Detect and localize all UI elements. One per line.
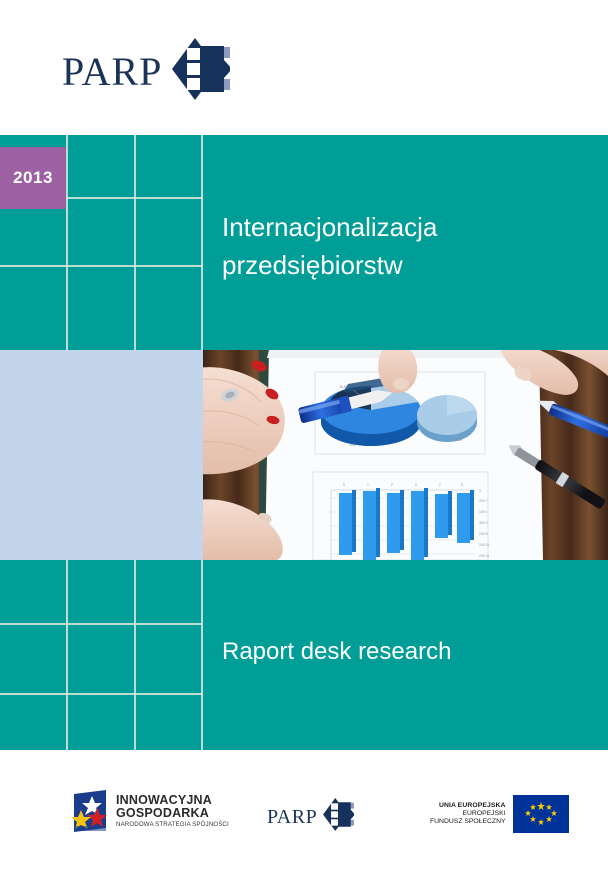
eu-flag-icon [513, 795, 569, 833]
svg-text:0: 0 [415, 483, 417, 487]
year-badge: 2013 [0, 147, 66, 209]
svg-text:16,5: 16,5 [339, 385, 346, 389]
svg-text:5: 5 [461, 483, 463, 487]
svg-text:10,2: 10,2 [455, 438, 462, 442]
svg-text:200 8: 200 8 [479, 532, 488, 536]
svg-text:1: 1 [367, 483, 369, 487]
page-title: Internacjonalizacja przedsiębiorstw [222, 208, 592, 285]
year-badge-label: 2013 [13, 168, 53, 188]
svg-text:19,6: 19,6 [349, 443, 356, 447]
stars-flag-icon [72, 790, 108, 832]
ig-line2: GOSPODARKA [116, 807, 229, 820]
eu-line2: EUROPEJSKI [430, 810, 506, 818]
svg-text:9: 9 [343, 483, 345, 487]
logo-innowacyjna-gospodarka: INNOWACYJNA GOSPODARKA NARODOWA STRATEGI… [72, 790, 229, 832]
svg-text:200 7: 200 7 [479, 499, 488, 503]
svg-text:300 9: 300 9 [479, 521, 488, 525]
eu-line3: FUNDUSZ SPOŁECZNY [430, 818, 506, 826]
cover-page: PARP [0, 0, 608, 871]
ig-line1: INNOWACYJNA [116, 794, 229, 807]
parp-diamond-icon [172, 38, 230, 105]
eu-line1: UNIA EUROPEJSKA [430, 802, 506, 810]
parp-logo-header: PARP [62, 38, 230, 105]
page-subtitle: Raport desk research [222, 638, 592, 666]
parp-wordmark: PARP [62, 52, 162, 92]
svg-text:0: 0 [479, 489, 481, 493]
cover-photo: 16,5 34,1 19,6 10,2 [203, 350, 608, 560]
logo-parp-footer: PARP [267, 798, 354, 836]
innowacyjna-gospodarka-text: INNOWACYJNA GOSPODARKA NARODOWA STRATEGI… [116, 794, 229, 828]
ig-line3: NARODOWA STRATEGIA SPÓJNOŚCI [116, 822, 229, 828]
page-header: PARP [0, 0, 608, 135]
logo-unia-europejska: UNIA EUROPEJSKA EUROPEJSKI FUNDUSZ SPOŁE… [430, 795, 569, 833]
svg-text:2: 2 [439, 483, 441, 487]
parp-wordmark-footer: PARP [267, 807, 317, 827]
parp-diamond-icon-footer [323, 798, 354, 836]
eu-text: UNIA EUROPEJSKA EUROPEJSKI FUNDUSZ SPOŁE… [430, 802, 506, 827]
svg-text:200 01: 200 01 [479, 543, 489, 547]
page-title-line2: przedsiębiorstw [222, 246, 592, 284]
svg-text:200 21: 200 21 [479, 554, 489, 558]
page-title-line1: Internacjonalizacja [222, 208, 592, 246]
svg-text:100 v: 100 v [479, 510, 488, 514]
